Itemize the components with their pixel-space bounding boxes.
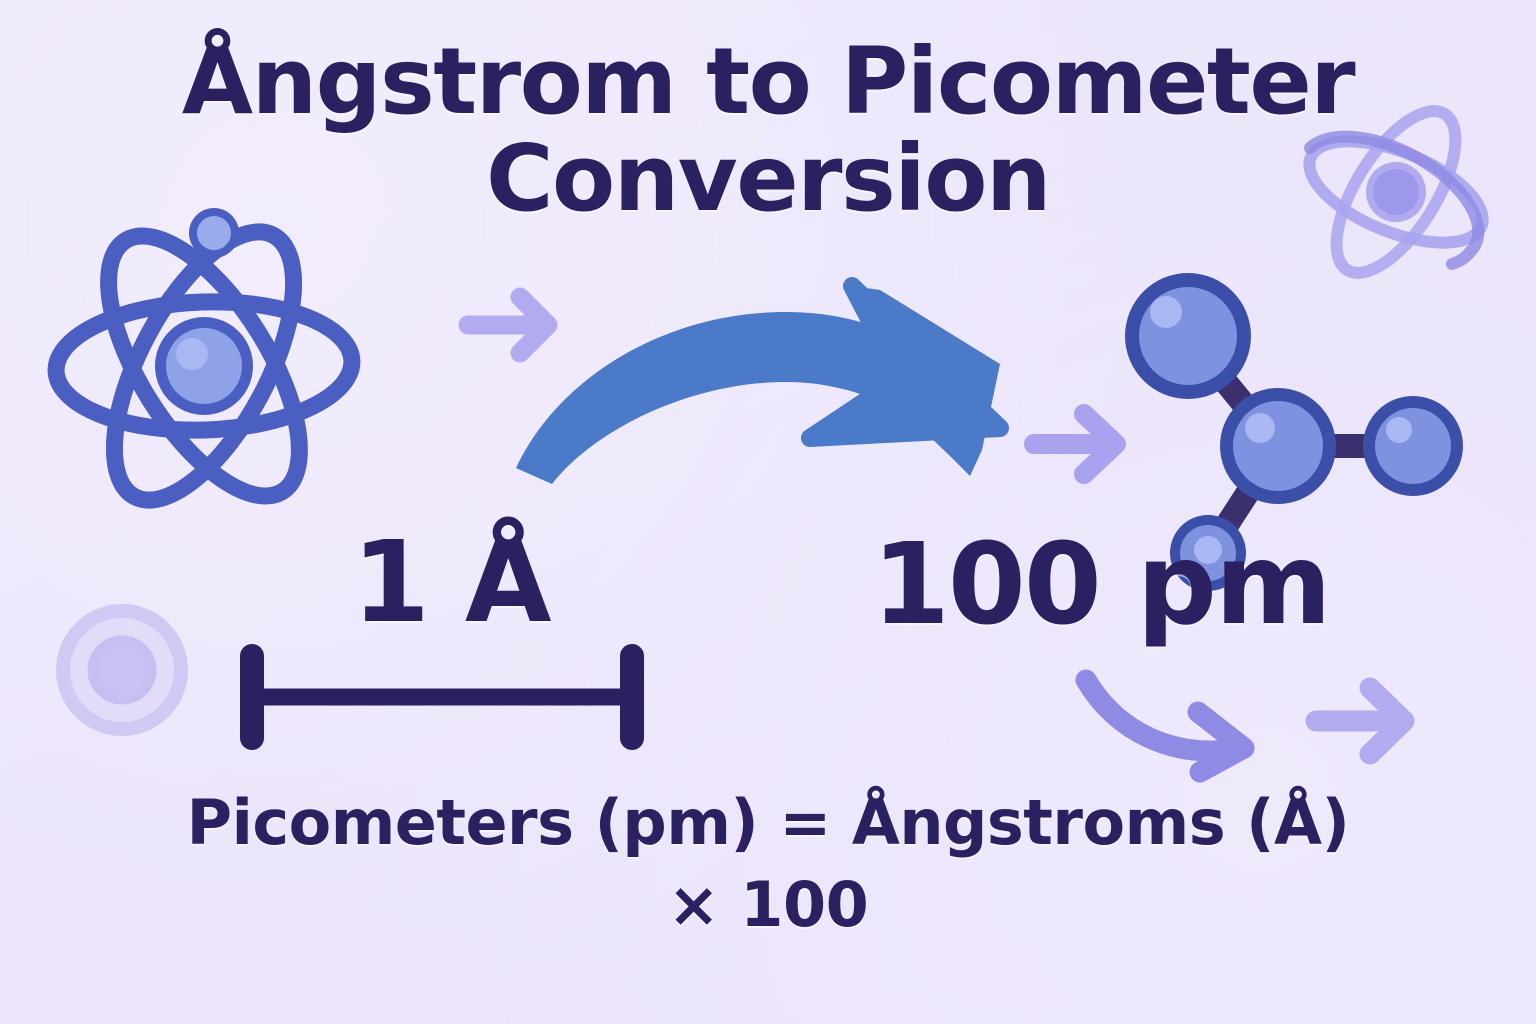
page-title: Ångstrom to Picometer Conversion xyxy=(0,34,1536,227)
formula-line-2: × 100 xyxy=(0,864,1536,946)
formula-line-1: Picometers (pm) = Ångstroms (Å) xyxy=(187,786,1350,859)
value-picometer: 100 pm xyxy=(872,520,1330,650)
conversion-formula: Picometers (pm) = Ångstroms (Å) × 100 xyxy=(0,782,1536,946)
value-angstrom: 1 Å xyxy=(352,518,550,648)
title-line-1: Ångstrom to Picometer xyxy=(182,28,1354,135)
title-line-2: Conversion xyxy=(0,131,1536,228)
infographic-canvas: Ångstrom to Picometer Conversion 1 Å 100… xyxy=(0,0,1536,1024)
